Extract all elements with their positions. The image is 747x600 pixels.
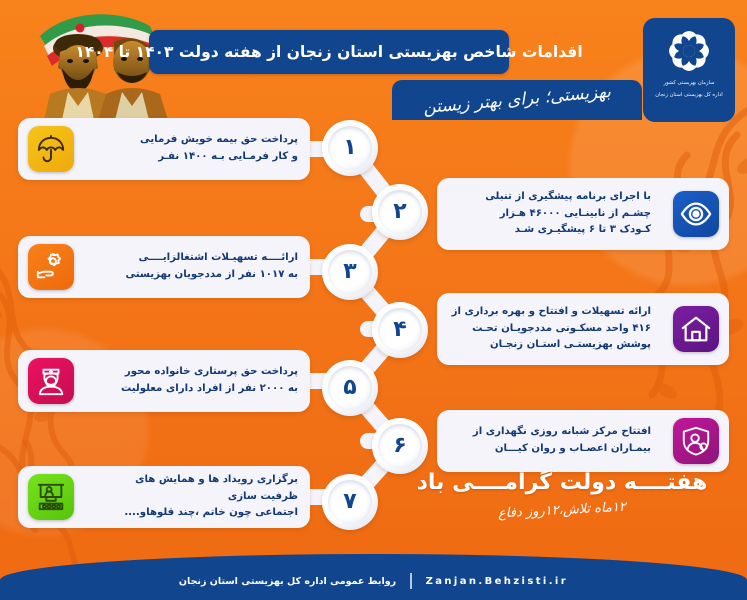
nurse-icon — [28, 358, 74, 404]
achievement-text: افتتاح مرکز شبانه روزی نگهداری ازبیمـارا… — [437, 424, 663, 458]
hand-gear-employment-icon — [28, 244, 74, 290]
achievement-card-1[interactable]: پرداخت حق بیمه خویش فرماییو کار فرمـایی … — [18, 118, 310, 180]
achievement-card-5[interactable]: پرداخت حق پرستاری خانواده محوربه ۲۰۰۰ نف… — [18, 350, 310, 412]
step-number: ۲ — [393, 201, 406, 223]
logo-caption-line2: اداره کل بهزیستی استان زنجان — [655, 91, 723, 99]
page-title-text: اقدامات شاخص بهزیستی استان زنجان از هفته… — [75, 43, 582, 61]
footer-bar: Zanjan.Behzisti.ir روابط عمومی اداره کل … — [0, 554, 747, 600]
step-node-4[interactable]: ۴ — [372, 302, 428, 358]
achievement-text: پرداخت حق بیمه خویش فرماییو کار فرمـایی … — [84, 132, 310, 166]
achievement-card-2[interactable]: با اجرای برنامه پیشگیری از تنبلیچشـم از … — [437, 178, 729, 250]
achievement-text: با اجرای برنامه پیشگیری از تنبلیچشـم از … — [437, 189, 663, 239]
infographic-canvas: اقدامات شاخص بهزیستی استان زنجان از هفته… — [0, 0, 747, 600]
step-number: ۴ — [393, 319, 406, 341]
achievement-card-6[interactable]: افتتاح مرکز شبانه روزی نگهداری ازبیمـارا… — [437, 410, 729, 472]
achievement-text: ارائــــه تسهیـلات اشتغالزایــــیبه ۱۰۱۷… — [84, 250, 310, 284]
subtitle-text: بهزیستی؛ برای بهتر زیستن — [422, 82, 611, 118]
step-node-3[interactable]: ۳ — [322, 244, 378, 300]
step-node-7[interactable]: ۷ — [322, 474, 378, 530]
header: اقدامات شاخص بهزیستی استان زنجان از هفته… — [0, 0, 747, 118]
step-node-2[interactable]: ۲ — [372, 184, 428, 240]
achievement-card-4[interactable]: ارائه تسهیلات و افتتاح و بهره برداری از۴… — [437, 293, 729, 365]
footer-divider — [410, 573, 412, 589]
achievement-card-7[interactable]: برگزاری رویداد ها و همایش های ظرفیت سازی… — [18, 466, 310, 528]
achievement-text: پرداخت حق پرستاری خانواده محوربه ۲۰۰۰ نف… — [84, 364, 310, 398]
slogan-main: هفتــــه دولت گرامــــی باد — [397, 470, 727, 495]
step-number: ۷ — [343, 491, 356, 513]
shield-patient-icon — [673, 418, 719, 464]
step-number: ۵ — [343, 377, 356, 399]
behzisti-flower-emblem — [665, 27, 713, 75]
organization-logo: سازمان بهزیستی کشور اداره کل بهزیستی است… — [643, 18, 735, 122]
achievement-text: برگزاری رویداد ها و همایش های ظرفیت سازی… — [84, 472, 310, 522]
logo-caption-line1: سازمان بهزیستی کشور — [664, 79, 715, 87]
umbrella-icon — [28, 126, 74, 172]
subtitle-banner: بهزیستی؛ برای بهتر زیستن — [392, 80, 642, 120]
government-week-slogan: هفتــــه دولت گرامــــی باد ۱۲ماه تلاش،۱… — [397, 470, 727, 518]
step-number: ۱ — [343, 137, 356, 159]
achievement-card-3[interactable]: ارائــــه تسهیـلات اشتغالزایــــیبه ۱۰۱۷… — [18, 236, 310, 298]
footer-website-url[interactable]: Zanjan.Behzisti.ir — [426, 576, 569, 587]
step-node-6[interactable]: ۶ — [372, 418, 428, 474]
house-icon — [673, 306, 719, 352]
presentation-seminar-icon — [28, 474, 74, 520]
slogan-sub: ۱۲ماه تلاش،۱۲روز دفاع — [397, 494, 727, 526]
arabesque-pattern-right — [627, 95, 747, 435]
step-node-1[interactable]: ۱ — [322, 120, 378, 176]
step-number: ۳ — [343, 261, 356, 283]
page-title: اقدامات شاخص بهزیستی استان زنجان از هفته… — [149, 30, 509, 74]
eye-icon — [673, 191, 719, 237]
footer-credit: روابط عمومی اداره کل بهزیستی استان زنجان — [179, 576, 396, 587]
achievement-text: ارائه تسهیلات و افتتاح و بهره برداری از۴… — [437, 304, 663, 354]
step-number: ۶ — [393, 435, 406, 457]
step-node-5[interactable]: ۵ — [322, 360, 378, 416]
